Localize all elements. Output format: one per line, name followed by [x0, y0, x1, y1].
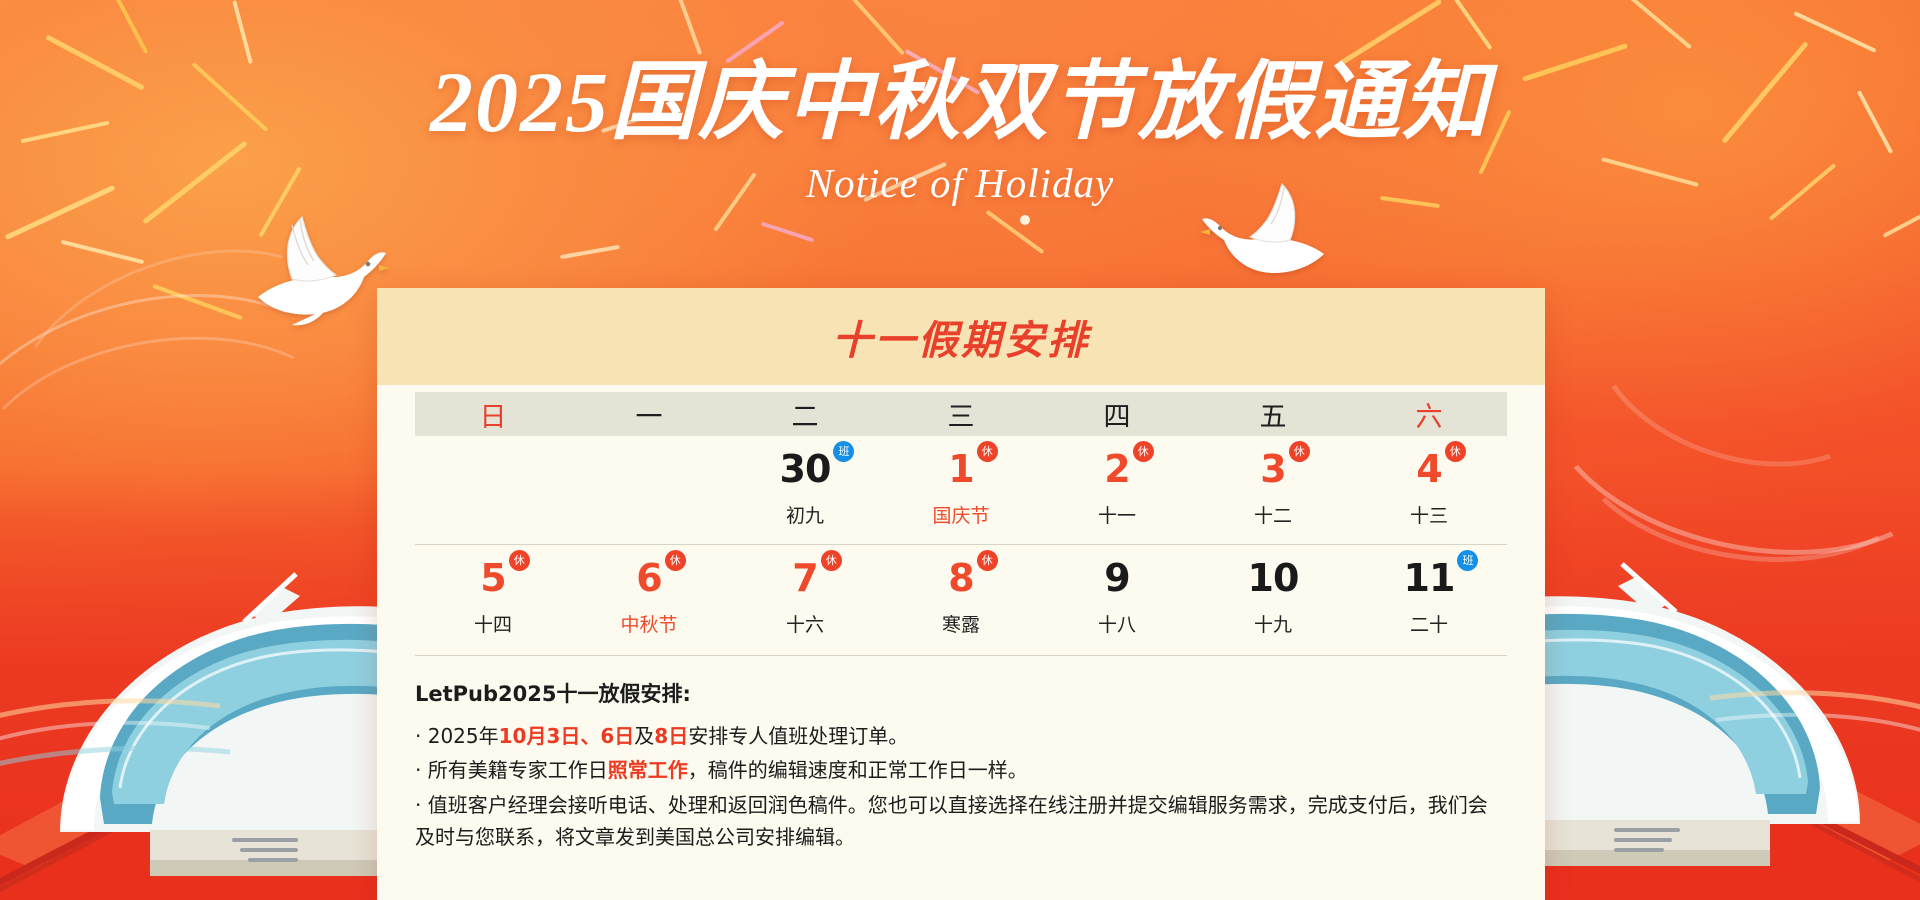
notes-text: · 值班客户经理会接听电话、处理和返回润色稿件。您也可以直接选择在线注册并提交编… [415, 793, 1488, 849]
calendar-weekday-6: 六 [1351, 395, 1507, 434]
calendar-weekday-1: 一 [571, 395, 727, 434]
rest-day-badge: 休 [821, 550, 842, 571]
calendar-day-cell[interactable]: 8休寒露 [883, 559, 1039, 637]
day-lunar-label: 二十 [1351, 610, 1507, 637]
notes-highlight: 照常工作 [608, 758, 688, 782]
day-lunar-label: 初九 [727, 501, 883, 528]
notes-highlight: 10月3日、6日 [499, 724, 635, 748]
calendar-day-cell[interactable]: 9十八 [1039, 559, 1195, 637]
day-number-wrap: 8休 [948, 559, 973, 597]
day-number-wrap: 6休 [636, 559, 661, 597]
day-number-wrap: 3休 [1260, 450, 1285, 488]
calendar-row: 30班初九1休国庆节2休十一3休十二4休十三 [415, 436, 1507, 544]
day-number: 30 [780, 447, 831, 491]
notes-text: 及 [634, 724, 654, 748]
day-lunar-label: 十二 [1195, 501, 1351, 528]
calendar-weekday-4: 四 [1039, 395, 1195, 434]
notes-line: · 值班客户经理会接听电话、处理和返回润色稿件。您也可以直接选择在线注册并提交编… [415, 789, 1507, 854]
rest-day-badge: 休 [1289, 441, 1310, 462]
day-number: 6 [636, 556, 661, 600]
day-lunar-label: 十六 [727, 610, 883, 637]
notes-line: · 2025年10月3日、6日及8日安排专人值班处理订单。 [415, 720, 1507, 752]
day-number: 8 [948, 556, 973, 600]
workday-badge: 班 [833, 441, 854, 462]
notes-line: · 所有美籍专家工作日照常工作，稿件的编辑速度和正常工作日一样。 [415, 754, 1507, 786]
day-lunar-label: 十三 [1351, 501, 1507, 528]
calendar-weekday-5: 五 [1195, 395, 1351, 434]
card-banner: 十一假期安排 [377, 288, 1545, 385]
holiday-card: 十一假期安排 日一二三四五六 30班初九1休国庆节2休十一3休十二4休十三5休十… [377, 288, 1545, 900]
rest-day-badge: 休 [977, 550, 998, 571]
calendar-day-cell[interactable]: 11班二十 [1351, 559, 1507, 637]
train-illustration-left [0, 400, 420, 900]
calendar-bottom-divider [415, 655, 1507, 656]
calendar-day-cell[interactable]: 4休十三 [1351, 450, 1507, 528]
notes-highlight: 8日 [654, 724, 688, 748]
day-number-wrap: 30班 [780, 450, 831, 488]
calendar-day-cell[interactable]: 7休十六 [727, 559, 883, 637]
calendar-day-cell[interactable]: 1休国庆节 [883, 450, 1039, 528]
dove-icon-right [1198, 176, 1338, 291]
day-number: 11 [1404, 556, 1455, 600]
calendar-weekday-2: 二 [727, 395, 883, 434]
day-number: 4 [1416, 447, 1441, 491]
day-number: 1 [948, 447, 973, 491]
train-illustration-right [1490, 390, 1920, 900]
notes-text: · 2025年 [415, 724, 499, 748]
day-number-wrap: 1休 [948, 450, 973, 488]
calendar-day-cell[interactable]: 3休十二 [1195, 450, 1351, 528]
calendar-day-cell[interactable]: 10十九 [1195, 559, 1351, 637]
poster-canvas: 2025国庆中秋双节放假通知 Notice of Holiday 十一假期安排 … [0, 0, 1920, 900]
notes-text: 安排专人值班处理订单。 [688, 724, 908, 748]
day-number: 5 [480, 556, 505, 600]
rest-day-badge: 休 [1133, 441, 1154, 462]
day-lunar-label: 十八 [1039, 610, 1195, 637]
day-lunar-label: 十九 [1195, 610, 1351, 637]
day-lunar-label: 中秋节 [571, 610, 727, 637]
workday-badge: 班 [1457, 550, 1478, 571]
day-number: 2 [1104, 447, 1129, 491]
notes-section: LetPub2025十一放假安排: · 2025年10月3日、6日及8日安排专人… [415, 678, 1507, 856]
day-number-wrap: 10 [1248, 559, 1299, 597]
day-number-wrap: 5休 [480, 559, 505, 597]
calendar-day-cell[interactable]: 5休十四 [415, 559, 571, 637]
calendar-weekday-0: 日 [415, 395, 571, 434]
rest-day-badge: 休 [977, 441, 998, 462]
calendar-day-cell[interactable]: 6休中秋节 [571, 559, 727, 637]
calendar: 日一二三四五六 30班初九1休国庆节2休十一3休十二4休十三5休十四6休中秋节7… [415, 392, 1507, 653]
day-number-wrap: 11班 [1404, 559, 1455, 597]
day-number: 3 [1260, 447, 1285, 491]
rest-day-badge: 休 [665, 550, 686, 571]
rest-day-badge: 休 [509, 550, 530, 571]
day-number: 7 [792, 556, 817, 600]
day-lunar-label: 十一 [1039, 501, 1195, 528]
day-lunar-label: 十四 [415, 610, 571, 637]
day-number: 10 [1248, 556, 1299, 600]
day-number-wrap: 4休 [1416, 450, 1441, 488]
day-number: 9 [1104, 556, 1129, 600]
notes-text: ，稿件的编辑速度和正常工作日一样。 [688, 758, 1028, 782]
day-number-wrap: 9 [1104, 559, 1129, 597]
day-number-wrap: 2休 [1104, 450, 1129, 488]
calendar-weekday-header: 日一二三四五六 [415, 392, 1507, 436]
notes-title: LetPub2025十一放假安排: [415, 678, 1507, 708]
dove-icon-left [240, 205, 390, 335]
calendar-weekday-3: 三 [883, 395, 1039, 434]
calendar-day-cell[interactable]: 2休十一 [1039, 450, 1195, 528]
day-lunar-label: 国庆节 [883, 501, 1039, 528]
day-number-wrap: 7休 [792, 559, 817, 597]
banner-title: 十一假期安排 [832, 308, 1090, 366]
rest-day-badge: 休 [1445, 441, 1466, 462]
notes-text: · 所有美籍专家工作日 [415, 758, 608, 782]
day-lunar-label: 寒露 [883, 610, 1039, 637]
calendar-day-cell[interactable]: 30班初九 [727, 450, 883, 528]
calendar-row: 5休十四6休中秋节7休十六8休寒露9十八10十九11班二十 [415, 544, 1507, 653]
